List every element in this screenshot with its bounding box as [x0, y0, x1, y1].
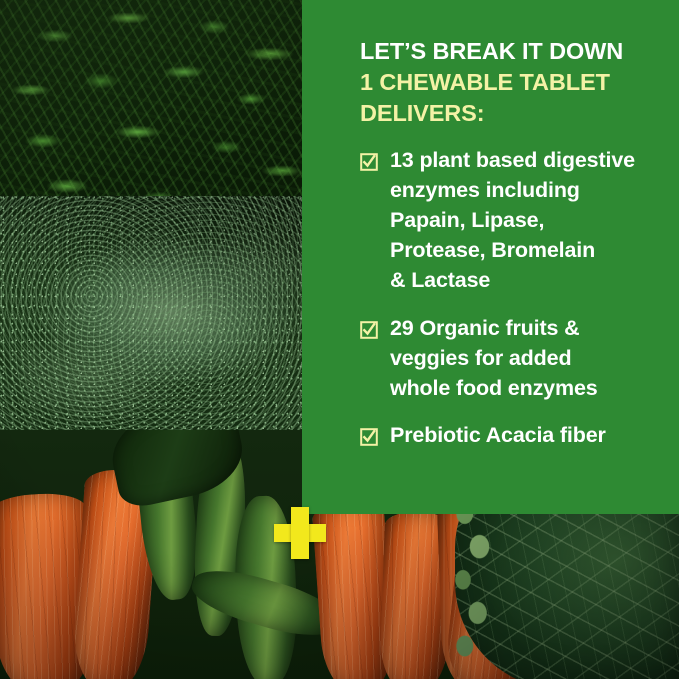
list-item: 29 Organic fruits & veggies for added wh…: [360, 313, 669, 403]
headline: LET’S BREAK IT DOWN 1 CHEWABLE TABLET DE…: [360, 36, 669, 129]
infographic-canvas: LET’S BREAK IT DOWN 1 CHEWABLE TABLET DE…: [0, 0, 679, 679]
bullet-line: 13 plant based digestive: [390, 145, 669, 175]
green-content-panel: LET’S BREAK IT DOWN 1 CHEWABLE TABLET DE…: [302, 0, 679, 514]
list-item-text: 13 plant based digestive enzymes includi…: [390, 145, 669, 295]
checkbox-checked-icon: [360, 317, 378, 335]
plus-icon: [274, 507, 326, 559]
bullet-line: Protease, Bromelain: [390, 235, 669, 265]
benefit-list: 13 plant based digestive enzymes includi…: [360, 145, 669, 450]
bullet-line: Prebiotic Acacia fiber: [390, 420, 669, 450]
panel-content: LET’S BREAK IT DOWN 1 CHEWABLE TABLET DE…: [360, 36, 669, 450]
headline-line-1: LET’S BREAK IT DOWN: [360, 36, 669, 67]
list-item: Prebiotic Acacia fiber: [360, 420, 669, 450]
bullet-line: veggies for added: [390, 343, 669, 373]
checkbox-checked-icon: [360, 149, 378, 167]
plus-icon-vertical-bar: [291, 507, 309, 559]
bullet-line: enzymes including: [390, 175, 669, 205]
checkbox-checked-icon: [360, 424, 378, 442]
bullet-line: & Lactase: [390, 265, 669, 295]
bullet-line: 29 Organic fruits &: [390, 313, 669, 343]
headline-line-3: DELIVERS:: [360, 98, 669, 129]
list-item-text: 29 Organic fruits & veggies for added wh…: [390, 313, 669, 403]
list-item: 13 plant based digestive enzymes includi…: [360, 145, 669, 295]
bullet-line: whole food enzymes: [390, 373, 669, 403]
list-item-text: Prebiotic Acacia fiber: [390, 420, 669, 450]
broccoli-crown-photo: [0, 196, 306, 446]
bullet-line: Papain, Lipase,: [390, 205, 669, 235]
headline-line-2: 1 CHEWABLE TABLET: [360, 67, 669, 98]
